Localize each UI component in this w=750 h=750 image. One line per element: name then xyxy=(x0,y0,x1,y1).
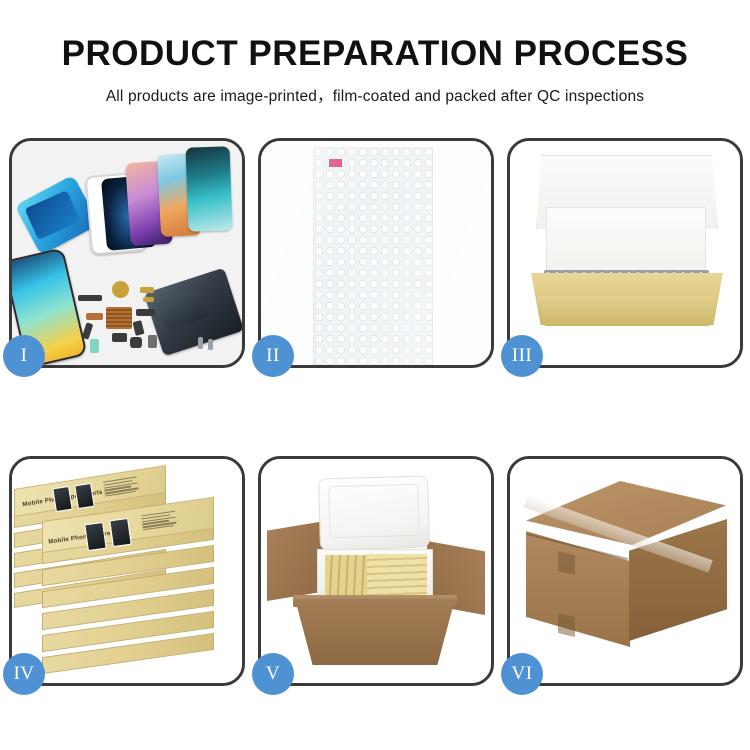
antenna-flex-icon xyxy=(132,320,144,336)
bubble-wrap-bag-icon xyxy=(313,147,433,365)
battery-cell-icon xyxy=(90,339,99,353)
step-badge-3: III xyxy=(501,335,543,377)
packed-boxes-row-2-icon xyxy=(367,554,427,598)
open-box-illustration xyxy=(510,141,740,365)
front-box-photo-2 xyxy=(109,518,132,547)
screw-2-icon xyxy=(208,339,213,350)
step-badge-6: VI xyxy=(501,653,543,695)
step-badge-1: I xyxy=(3,335,45,377)
process-step-panel-1: I xyxy=(9,138,245,368)
connector-strip-icon xyxy=(78,295,102,301)
process-step-panel-4: Mobile Phone Spare Parts Mobile Phone Sp… xyxy=(9,456,245,686)
gold-contact-small-icon xyxy=(143,297,154,302)
back-box-photo-2 xyxy=(74,483,95,509)
bubble-wrap-illustration xyxy=(261,141,491,365)
earpiece-icon xyxy=(130,337,142,348)
gold-contact-icon xyxy=(140,287,154,293)
ic-chip-array-icon xyxy=(106,307,132,329)
foam-cooler-lid-icon xyxy=(318,476,430,551)
sim-tray-icon xyxy=(148,335,157,348)
kraft-box-front-flap-icon xyxy=(534,296,720,326)
camera-module-icon xyxy=(136,309,155,316)
process-steps-grid: I II II xyxy=(9,138,743,686)
step-1-image xyxy=(12,141,242,365)
page-title: PRODUCT PREPARATION PROCESS xyxy=(0,34,750,73)
step-5-image xyxy=(261,459,491,683)
phone-parts-collage-illustration xyxy=(12,141,242,365)
foam-sheet-icon xyxy=(546,207,706,279)
carton-tab-bottom-icon xyxy=(558,613,575,637)
sealed-carton-illustration xyxy=(510,459,740,683)
speaker-coil-icon xyxy=(112,281,129,298)
step-4-image: Mobile Phone Spare Parts Mobile Phone Sp… xyxy=(12,459,242,683)
screw-icon xyxy=(198,337,203,349)
step-3-image xyxy=(510,141,740,365)
logic-board-icon xyxy=(144,268,242,357)
carton-front-face-icon xyxy=(526,531,630,647)
step-badge-4: IV xyxy=(3,653,45,695)
process-step-panel-3: III xyxy=(507,138,743,368)
carton-body-icon xyxy=(295,599,455,665)
stacked-boxes-illustration: Mobile Phone Spare Parts Mobile Phone Sp… xyxy=(12,459,242,683)
back-box-photo-1 xyxy=(52,486,73,512)
process-step-panel-2: II xyxy=(258,138,494,368)
carton-tab-top-icon xyxy=(558,551,575,575)
ribbon-cable-icon xyxy=(82,322,94,339)
step-badge-2: II xyxy=(252,335,294,377)
pink-qc-label-icon xyxy=(329,159,342,167)
page-subtitle: All products are image-printed，film-coat… xyxy=(0,84,750,106)
carton-with-cooler-illustration xyxy=(261,459,491,683)
step-2-image xyxy=(261,141,491,365)
step-6-image xyxy=(510,459,740,683)
process-step-panel-6: VI xyxy=(507,456,743,686)
vibrator-motor-icon xyxy=(112,333,127,342)
cyan-phone-screen-icon xyxy=(186,146,233,231)
flex-connector-icon xyxy=(86,313,103,320)
process-step-panel-5: V xyxy=(258,456,494,686)
front-box-photo-1 xyxy=(84,522,107,551)
step-badge-5: V xyxy=(252,653,294,695)
page-header: PRODUCT PREPARATION PROCESS All products… xyxy=(0,0,750,106)
